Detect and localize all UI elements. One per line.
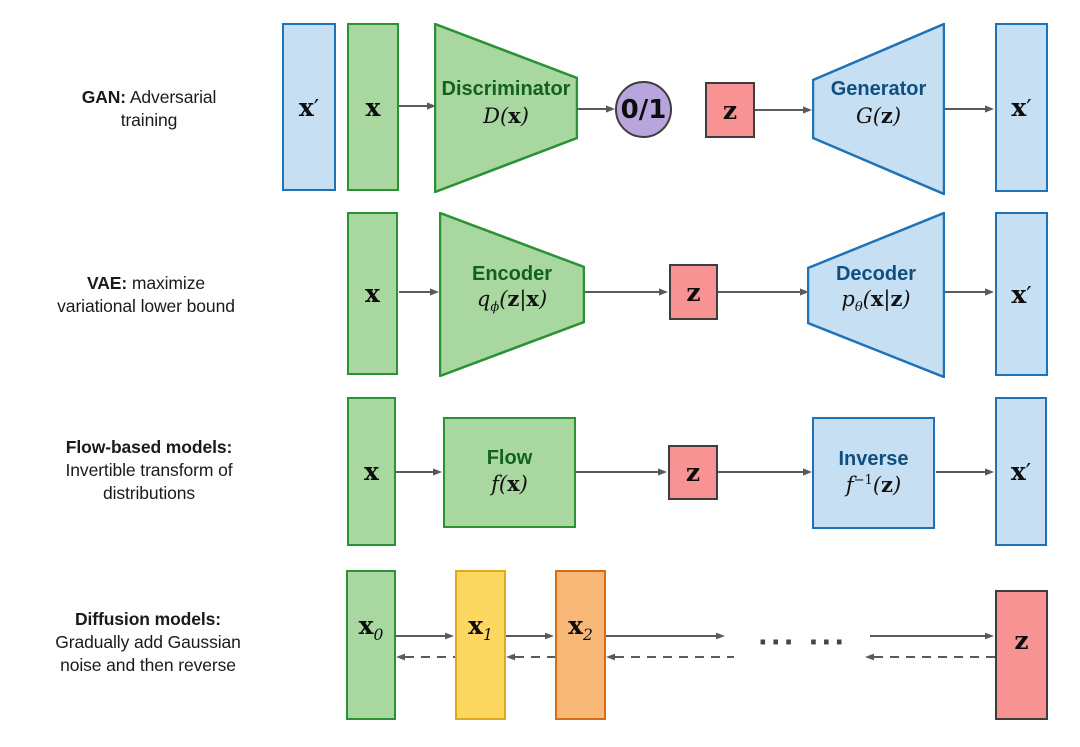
diffusion-ellipsis: ∙∙∙ ∙∙∙ [758,628,847,658]
vae-arrow-decoder-to-xprime [945,286,995,298]
vae-arrow-encoder-to-z [585,286,669,298]
vae-encoder-title: Encoder [439,264,585,285]
gan-discriminator-trapezoid: Discriminator D(x) [434,23,578,193]
row-label-flow: Flow-based models: Invertible transform … [20,436,278,505]
row-label-vae-rest: maximize [127,273,205,293]
diffusion-arrow-forward-x0-x1 [396,631,455,641]
vae-decoder-math: pθ(x|z) [807,287,945,316]
flow-x-input-bar: x [347,397,396,546]
diffusion-x2-label: x2 [568,611,593,644]
flow-arrow-inverse-to-xprime [936,466,995,478]
vae-xprime-right-label: x′ [1011,280,1031,309]
flow-arrow-flow-to-z [576,466,668,478]
diffusion-x1-bar [455,570,506,720]
diffusion-x2-label-wrap: x2 [555,612,606,642]
row-label-diffusion: Diffusion models: Gradually add Gaussian… [12,608,284,677]
row-label-flow-line2: Invertible transform of [66,460,233,480]
row-label-flow-bold: Flow-based models: [66,437,232,457]
flow-arrow-z-to-inverse [718,466,813,478]
figure-canvas: GAN: Adversarial training x′ x Discrimin… [0,0,1080,747]
row-label-vae: VAE: maximize variational lower bound [12,272,280,318]
diffusion-arrow-reverse-x2-x1 [506,652,555,662]
diffusion-x0-label: x0 [359,611,384,644]
gan-generator-math: G(z) [812,104,945,129]
diffusion-x0-label-wrap: x0 [346,612,396,642]
flow-xprime-right-bar: x′ [995,397,1047,546]
row-label-gan: GAN: Adversarial training [24,86,274,132]
row-label-flow-line3: distributions [103,483,195,503]
vae-arrow-z-to-decoder [718,286,810,298]
flow-z-label: z [686,458,700,487]
row-label-diffusion-bold: Diffusion models: [75,609,221,629]
diffusion-z-bar [995,590,1048,720]
flow-xprime-right-label: x′ [1011,457,1031,486]
gan-xprime-right-bar: x′ [995,23,1048,192]
vae-decoder-trapezoid: Decoder pθ(x|z) [807,212,945,378]
diffusion-z-label: z [1014,626,1028,655]
vae-z-box: z [669,264,718,320]
diffusion-x1-label-wrap: x1 [455,612,506,642]
flow-inverse-math: f−1(z) [846,473,901,498]
diffusion-arrow-reverse-x1-x0 [396,652,455,662]
flow-block-math: f(x) [491,472,528,497]
flow-arrow-x-to-flow [396,466,443,478]
diffusion-x2-bar [555,570,606,720]
vae-decoder-title: Decoder [807,264,945,285]
vae-x-input-bar: x [347,212,398,375]
vae-xprime-right-bar: x′ [995,212,1048,376]
vae-z-label: z [686,278,700,307]
gan-decision-circle: 0/1 [615,81,672,138]
row-label-gan-bold: GAN: [82,87,126,107]
gan-x-input-bar: x [347,23,399,191]
flow-block-title: Flow [487,448,533,469]
diffusion-x0-bar [346,570,396,720]
gan-xprime-left-label: x′ [299,93,319,122]
gan-z-label: z [723,96,737,125]
vae-x-input-label: x [365,279,380,308]
gan-x-input-label: x [366,93,381,122]
diffusion-arrow-reverse-ellipsis-x2 [606,652,734,662]
gan-generator-title: Generator [812,79,945,100]
gan-xprime-left-bar: x′ [282,23,336,191]
vae-arrow-x-to-encoder [399,286,440,298]
flow-inverse-block: Inverse f−1(z) [812,417,935,529]
gan-decision-label: 0/1 [621,95,667,125]
flow-z-box: z [668,445,718,500]
row-label-vae-bold: VAE: [87,273,127,293]
gan-arrow-generator-to-xprime [945,103,995,115]
gan-discriminator-title: Discriminator [434,79,578,100]
diffusion-z-label-wrap: z [995,625,1048,655]
vae-encoder-math: qϕ(z|x) [439,287,585,316]
row-label-vae-line2: variational lower bound [57,296,235,316]
flow-x-input-label: x [364,457,379,486]
diffusion-arrow-forward-x1-x2 [506,631,555,641]
row-label-gan-rest: Adversarial [126,87,216,107]
diffusion-arrow-reverse-z-ellipsis [865,652,995,662]
row-label-diffusion-line2: Gradually add Gaussian [55,632,241,652]
gan-arrow-x-to-discriminator [399,100,437,112]
gan-generator-trapezoid: Generator G(z) [812,23,945,195]
flow-inverse-title: Inverse [838,449,908,470]
gan-xprime-right-label: x′ [1011,93,1031,122]
gan-discriminator-math: D(x) [434,104,578,129]
diffusion-arrow-forward-ellipsis-z [870,631,995,641]
gan-arrow-discriminator-to-decision [578,103,616,115]
gan-z-box: z [705,82,755,138]
diffusion-x1-label: x1 [468,611,493,644]
row-label-gan-line2: training [121,110,178,130]
diffusion-arrow-forward-x2-ellipsis [606,631,726,641]
gan-arrow-z-to-generator [755,104,813,116]
flow-block: Flow f(x) [443,417,576,528]
vae-encoder-trapezoid: Encoder qϕ(z|x) [439,212,585,377]
row-label-diffusion-line3: noise and then reverse [60,655,236,675]
